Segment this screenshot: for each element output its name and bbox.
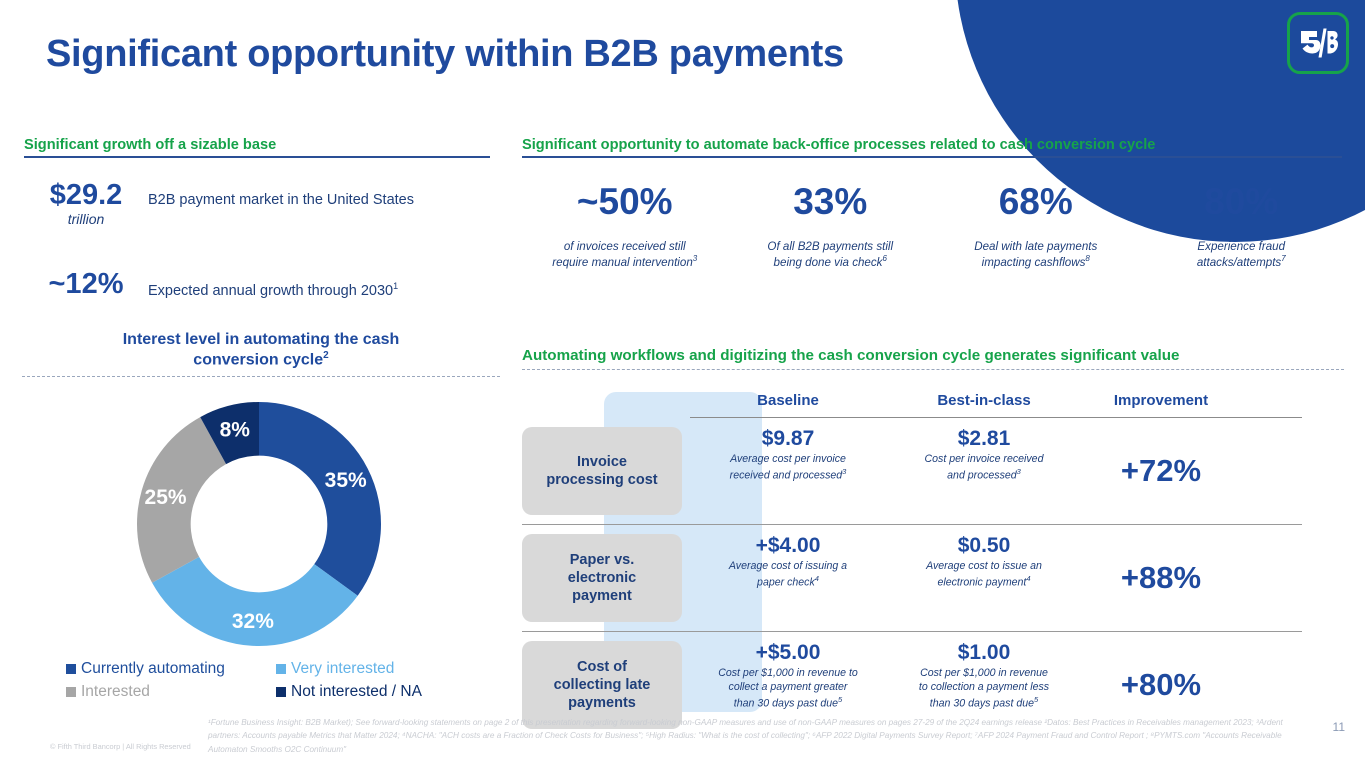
best-note-line3: than 30 days past due <box>930 697 1034 709</box>
table-header-group: Automating workflows and digitizing the … <box>522 347 1344 370</box>
stat-description: Expected annual growth through 20301 <box>148 269 398 299</box>
baseline-cell: +$4.00 Average cost of issuing a paper c… <box>690 534 886 622</box>
stat-description: B2B payment market in the United States <box>148 180 414 208</box>
kpi-footnote-marker: 8 <box>1085 254 1089 263</box>
best-note-footnote-marker: 4 <box>1026 574 1030 583</box>
best-note-line1: Average cost to issue an <box>926 560 1042 572</box>
kpi-caption-line1: of invoices received still <box>564 240 686 253</box>
stat-row: $29.2 trillion B2B payment market in the… <box>24 180 504 227</box>
left-panel-header: Significant growth off a sizable base <box>24 137 490 153</box>
best-in-class-note: Average cost to issue an electronic paym… <box>886 560 1082 590</box>
best-note-footnote-marker: 5 <box>1034 695 1038 704</box>
legend-label: Interested <box>81 683 150 701</box>
row-label-text: Invoice processing cost <box>546 453 657 490</box>
row-label-line1: Paper vs. <box>570 552 635 568</box>
copyright-notice: © Fifth Third Bancorp | All Rights Reser… <box>50 742 191 751</box>
kpi-caption-line2: being done via check <box>774 256 883 269</box>
stat-description-text: Expected annual growth through 2030 <box>148 283 393 299</box>
column-header-baseline: Baseline <box>690 392 886 417</box>
legend-label: Currently automating <box>81 660 225 678</box>
right-panel-header-group: Significant opportunity to automate back… <box>522 137 1342 158</box>
kpi-caption-line2: attacks/attempts <box>1197 256 1281 269</box>
stat-value-group: $29.2 trillion <box>24 180 148 227</box>
donut-slice-label: 32% <box>232 610 274 633</box>
row-label-line3: payment <box>572 588 632 604</box>
row-label-text: Cost of collecting late payments <box>554 658 651 713</box>
best-note-line2: and processed <box>947 469 1017 481</box>
kpi-card: 80% Experience fraud attacks/attempts7 <box>1139 182 1345 270</box>
kpi-value: ~50% <box>522 182 728 223</box>
legend-label: Very interested <box>291 660 394 678</box>
best-in-class-value: $0.50 <box>886 534 1082 557</box>
left-panel-divider <box>24 156 490 158</box>
row-label-line2: processing cost <box>546 472 657 488</box>
donut-chart: 35%32%25%8% <box>128 400 390 648</box>
kpi-caption: Deal with late payments impacting cashfl… <box>933 239 1139 270</box>
stat-unit: trillion <box>24 211 148 227</box>
left-panel-header-group: Significant growth off a sizable base <box>24 137 490 158</box>
improvement-value: +88% <box>1121 560 1201 596</box>
kpi-footnote-marker: 6 <box>882 254 886 263</box>
stat-value-group: ~12% <box>24 269 148 299</box>
stat-value: $29.2 <box>24 180 148 210</box>
baseline-value: $9.87 <box>690 427 886 450</box>
best-in-class-note: Cost per invoice received and processed3 <box>886 453 1082 483</box>
kpi-caption-line2: require manual intervention <box>552 256 693 269</box>
kpi-card: 33% Of all B2B payments still being done… <box>728 182 934 270</box>
donut-chart-svg: 35%32%25%8% <box>128 400 390 648</box>
baseline-note-footnote-marker: 3 <box>842 467 846 476</box>
baseline-note: Average cost per invoice received and pr… <box>690 453 886 483</box>
best-note-line2: electronic payment <box>937 576 1026 588</box>
page-number: 11 <box>1333 720 1345 734</box>
table-row: Paper vs. electronic payment +$4.00 Aver… <box>522 525 1344 631</box>
legend-swatch-icon <box>276 687 286 697</box>
kpi-caption-line2: impacting cashflows <box>982 256 1086 269</box>
kpi-caption: Of all B2B payments still being done via… <box>728 239 934 270</box>
baseline-note-footnote-marker: 4 <box>815 574 819 583</box>
legend-item[interactable]: Not interested / NA <box>276 683 486 701</box>
improvement-value: +80% <box>1121 667 1201 703</box>
baseline-note-line1: Cost per $1,000 in revenue to <box>718 667 858 679</box>
improvement-value: +72% <box>1121 453 1201 489</box>
donut-slice-label: 35% <box>325 469 367 492</box>
row-label-line2: electronic <box>568 570 637 586</box>
best-note-line2: to collection a payment less <box>919 681 1049 693</box>
kpi-footnote-marker: 7 <box>1281 254 1285 263</box>
best-in-class-cell: $0.50 Average cost to issue an electroni… <box>886 534 1082 622</box>
legend-item[interactable]: Very interested <box>276 660 486 678</box>
best-in-class-value: $2.81 <box>886 427 1082 450</box>
row-label-chip: Paper vs. electronic payment <box>522 534 682 622</box>
legend-swatch-icon <box>66 687 76 697</box>
kpi-caption-line1: Of all B2B payments still <box>767 240 893 253</box>
table-panel-header: Automating workflows and digitizing the … <box>522 347 1344 364</box>
footnotes: ¹Fortune Business Insight: B2B Market); … <box>208 716 1298 756</box>
donut-slice <box>259 402 381 596</box>
donut-panel-divider <box>22 376 500 377</box>
best-in-class-cell: $2.81 Cost per invoice received and proc… <box>886 427 1082 515</box>
improvement-cell: +72% <box>1082 427 1240 515</box>
kpi-value: 33% <box>728 182 934 223</box>
donut-title-line2: conversion cycle <box>193 352 323 369</box>
donut-title-line1: Interest level in automating the cash <box>123 331 400 348</box>
row-label-line2: collecting late <box>554 677 651 693</box>
baseline-note-line1: Average cost per invoice <box>730 453 846 465</box>
value-table: Baseline Best-in-class Improvement Invoi… <box>522 392 1344 738</box>
donut-slice-label: 8% <box>220 419 251 442</box>
legend-label: Not interested / NA <box>291 683 422 701</box>
kpi-caption-line1: Experience fraud <box>1197 240 1285 253</box>
baseline-value: +$4.00 <box>690 534 886 557</box>
baseline-note-line2: received and processed <box>730 469 842 481</box>
kpi-footnote-marker: 3 <box>693 254 697 263</box>
right-panel-divider <box>522 156 1342 158</box>
donut-title-footnote-marker: 2 <box>323 350 329 361</box>
legend-item[interactable]: Currently automating <box>66 660 276 678</box>
baseline-note-line1: Average cost of issuing a <box>729 560 847 572</box>
right-panel-header: Significant opportunity to automate back… <box>522 137 1342 153</box>
row-label-chip: Invoice processing cost <box>522 427 682 515</box>
fifth-third-bancorp-logo <box>1287 12 1349 74</box>
kpi-value: 68% <box>933 182 1139 223</box>
best-note-line1: Cost per invoice received <box>925 453 1044 465</box>
baseline-note: Average cost of issuing a paper check4 <box>690 560 886 590</box>
best-note-line1: Cost per $1,000 in revenue <box>920 667 1048 679</box>
stat-description-text: B2B payment market in the United States <box>148 192 414 208</box>
baseline-note-footnote-marker: 5 <box>838 695 842 704</box>
row-label-text: Paper vs. electronic payment <box>568 551 637 606</box>
baseline-note-line2: collect a payment greater <box>729 681 848 693</box>
donut-chart-title: Interest level in automating the cash co… <box>22 330 500 371</box>
table-panel-divider <box>522 369 1344 370</box>
baseline-value: +$5.00 <box>690 641 886 664</box>
row-label-line1: Invoice <box>577 454 627 470</box>
baseline-cell: $9.87 Average cost per invoice received … <box>690 427 886 515</box>
stat-footnote-marker: 1 <box>393 281 398 291</box>
baseline-note-line2: paper check <box>757 576 815 588</box>
kpi-value: 80% <box>1139 182 1345 223</box>
table-corner-cell <box>522 392 690 417</box>
page-title: Significant opportunity within B2B payme… <box>46 33 844 76</box>
stat-value: ~12% <box>24 269 148 299</box>
legend-swatch-icon <box>276 664 286 674</box>
best-note-footnote-marker: 3 <box>1017 467 1021 476</box>
baseline-note-line3: than 30 days past due <box>734 697 838 709</box>
legend-item[interactable]: Interested <box>66 683 276 701</box>
row-label-line3: payments <box>568 695 636 711</box>
footnote-line1: ¹Fortune Business Insight: B2B Market); … <box>208 718 1013 727</box>
table-row: Invoice processing cost $9.87 Average co… <box>522 418 1344 524</box>
kpi-card: ~50% of invoices received still require … <box>522 182 728 270</box>
donut-slice-label: 25% <box>145 486 187 509</box>
column-header-improvement: Improvement <box>1082 392 1240 417</box>
row-label-cell: Paper vs. electronic payment <box>522 534 690 622</box>
legend-swatch-icon <box>66 664 76 674</box>
left-panel-stats: $29.2 trillion B2B payment market in the… <box>24 180 504 300</box>
kpi-caption: of invoices received still require manua… <box>522 239 728 270</box>
stat-row: ~12% Expected annual growth through 2030… <box>24 269 504 299</box>
donut-header-group: Interest level in automating the cash co… <box>22 330 500 377</box>
baseline-note: Cost per $1,000 in revenue to collect a … <box>690 667 886 711</box>
donut-chart-legend: Currently automating Very interested Int… <box>66 660 486 706</box>
row-label-cell: Invoice processing cost <box>522 427 690 515</box>
kpi-row: ~50% of invoices received still require … <box>522 182 1344 270</box>
kpi-caption-line1: Deal with late payments <box>974 240 1097 253</box>
column-header-best-in-class: Best-in-class <box>886 392 1082 417</box>
row-label-line1: Cost of <box>577 659 627 675</box>
best-in-class-note: Cost per $1,000 in revenue to collection… <box>886 667 1082 711</box>
table-header-row: Baseline Best-in-class Improvement <box>522 392 1344 417</box>
best-in-class-value: $1.00 <box>886 641 1082 664</box>
kpi-card: 68% Deal with late payments impacting ca… <box>933 182 1139 270</box>
improvement-cell: +88% <box>1082 534 1240 622</box>
kpi-caption: Experience fraud attacks/attempts7 <box>1139 239 1345 270</box>
